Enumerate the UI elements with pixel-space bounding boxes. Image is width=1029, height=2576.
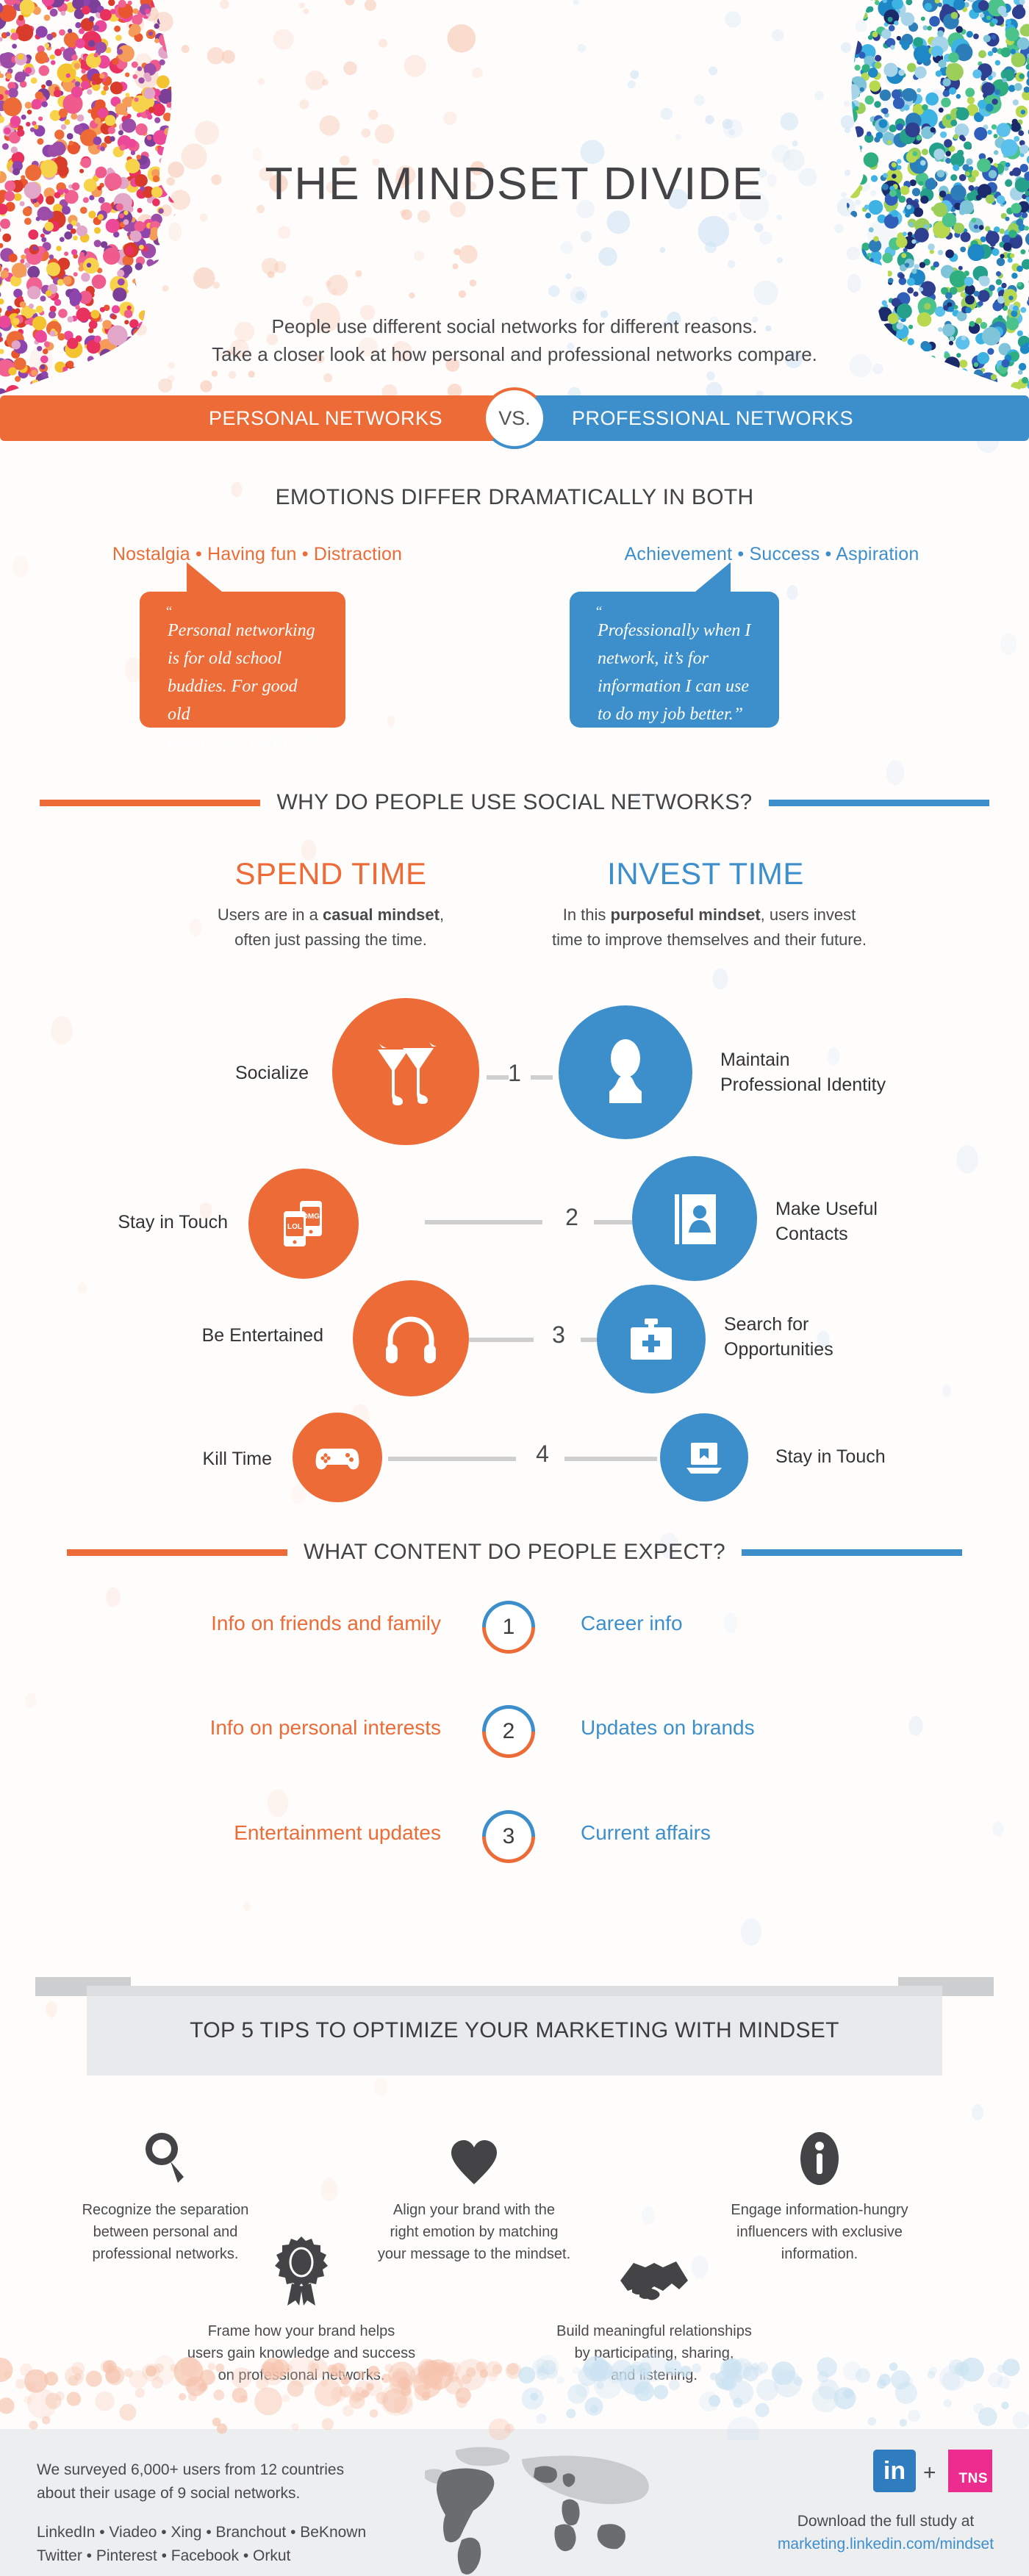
info-icon <box>800 2131 839 2186</box>
spend-desc-a: Users are in a <box>218 905 323 924</box>
ce-left-3: Entertainment updates <box>96 1821 441 1845</box>
professional-quote-text: Professionally when I network, it’s for … <box>598 617 751 728</box>
tip-3-line2: influencers with exclusive <box>691 2221 948 2243</box>
invest-label-1: Maintain Professional Identity <box>720 1047 963 1097</box>
rank-number-1: 1 <box>500 1060 529 1087</box>
invest-label-3-line1: Search for <box>724 1312 959 1337</box>
download-label: Download the full study at <box>797 2513 974 2530</box>
blue-rule <box>742 1549 962 1556</box>
orange-rule <box>67 1549 287 1556</box>
tip-4: Frame how your brand helps users gain kn… <box>158 2245 445 2386</box>
invest-icon-circle-4 <box>660 1413 748 1502</box>
tip-5-line2: by participating, sharing, <box>507 2342 801 2364</box>
tns-logo: TNS <box>948 2450 992 2492</box>
tip-2-icon-wrap <box>345 2124 603 2186</box>
rank-number-2: 2 <box>557 1204 587 1231</box>
svg-text:LOL: LOL <box>287 1223 302 1231</box>
rank-connector-line <box>388 1457 516 1461</box>
game-controller-icon <box>312 1432 362 1482</box>
personal-quote-text: Personal networking is for old school bu… <box>168 617 318 756</box>
spend-time-desc: Users are in a casual mindset, often jus… <box>173 903 489 952</box>
laptop-icon <box>681 1434 728 1481</box>
invest-label-2: Make Useful Contacts <box>775 1196 996 1246</box>
cocktail-glasses-icon <box>367 1033 444 1110</box>
invest-desc-c: , users invest <box>761 905 856 924</box>
briefcase-icon <box>622 1310 681 1368</box>
tip-1-icon-wrap <box>44 2124 287 2186</box>
spend-desc-bold: casual mindset <box>323 905 440 924</box>
spend-icon-circle-3 <box>353 1280 469 1396</box>
invest-icon-circle-1 <box>559 1005 692 1139</box>
personal-networks-label: PERSONAL NETWORKS <box>0 395 470 441</box>
tip-5: Build meaningful relationships by partic… <box>507 2245 801 2386</box>
subtitle-line-1: People use different social networks for… <box>0 312 1029 340</box>
content-expect-heading: WHAT CONTENT DO PEOPLE EXPECT? <box>0 1540 1029 1565</box>
invest-desc-line2: time to improve themselves and their fut… <box>552 930 867 949</box>
tip-2-line1: Align your brand with the <box>345 2199 603 2221</box>
spend-icon-circle-2: OMG LOL <box>248 1169 359 1279</box>
spend-icon-circle-4 <box>293 1413 382 1502</box>
spend-label-4: Kill Time <box>88 1446 272 1471</box>
rank-number-4: 4 <box>528 1441 557 1468</box>
invest-label-3: Search for Opportunities <box>724 1312 959 1362</box>
spend-label-3: Be Entertained <box>125 1323 323 1348</box>
rank-connector-line <box>531 1075 553 1080</box>
professional-emotion-words: Achievement • Success • Aspiration <box>514 544 1029 565</box>
ce-number-3: 3 <box>482 1810 535 1863</box>
handshake-icon <box>617 2250 691 2307</box>
spend-label-1: Socialize <box>125 1061 309 1086</box>
download-block: Download the full study at marketing.lin… <box>764 2510 1007 2555</box>
spend-time-title: SPEND TIME <box>198 856 463 891</box>
tip-4-icon-wrap <box>158 2245 445 2307</box>
ce-left-1: Info on friends and family <box>96 1612 441 1635</box>
tip-1-line1: Recognize the separation <box>44 2199 287 2221</box>
professional-networks-label: PROFESSIONAL NETWORKS <box>559 395 1029 441</box>
invest-icon-circle-3 <box>597 1285 706 1393</box>
invest-label-2-line2: Contacts <box>775 1221 996 1246</box>
emotions-heading: EMOTIONS DIFFER DRAMATICALLY IN BOTH <box>0 485 1029 510</box>
linkedin-logo: in <box>873 2450 916 2492</box>
download-url-link[interactable]: marketing.linkedin.com/mindset <box>764 2533 1007 2555</box>
invest-label-1-line2: Professional Identity <box>720 1072 963 1097</box>
invest-label-2-line1: Make Useful <box>775 1196 996 1221</box>
tip-2: Align your brand with the right emotion … <box>345 2124 603 2265</box>
tip-3-line1: Engage information-hungry <box>691 2199 948 2221</box>
ce-right-2: Updates on brands <box>581 1716 926 1740</box>
professional-quote-bubble: “ Professionally when I network, it’s fo… <box>570 592 779 728</box>
tip-4-text: Frame how your brand helps users gain kn… <box>158 2320 445 2386</box>
invest-desc-bold: purposeful mindset <box>611 905 761 924</box>
contact-card-icon <box>663 1187 726 1250</box>
plus-sign-icon: + <box>923 2461 936 2486</box>
invest-label-3-line2: Opportunities <box>724 1337 959 1362</box>
headphones-icon <box>380 1307 442 1369</box>
why-heading-text: WHY DO PEOPLE USE SOCIAL NETWORKS? <box>276 790 752 815</box>
world-map-graphic <box>412 2439 669 2576</box>
magnifier-icon <box>143 2130 188 2186</box>
orange-rule <box>40 800 260 806</box>
tip-4-line2: users gain knowledge and success <box>158 2342 445 2364</box>
professional-bubble-tail <box>691 562 731 595</box>
versus-banner: PERSONAL NETWORKS PROFESSIONAL NETWORKS … <box>0 395 1029 441</box>
rank-connector-line <box>425 1220 542 1224</box>
ce-right-1: Career info <box>581 1612 926 1635</box>
invest-desc-a: In this <box>563 905 611 924</box>
spend-icon-circle-1 <box>332 998 479 1145</box>
ce-number-1: 1 <box>482 1601 535 1654</box>
heart-icon <box>450 2139 498 2186</box>
tip-5-text: Build meaningful relationships by partic… <box>507 2320 801 2386</box>
ce-left-2: Info on personal interests <box>96 1716 441 1740</box>
award-ribbon-icon <box>273 2235 330 2307</box>
rank-connector-line <box>564 1457 657 1461</box>
invest-time-desc: In this purposeful mindset, users invest… <box>529 903 889 952</box>
why-section-heading: WHY DO PEOPLE USE SOCIAL NETWORKS? <box>0 790 1029 815</box>
page-subtitle: People use different social networks for… <box>0 312 1029 368</box>
tip-1: Recognize the separation between persona… <box>44 2124 287 2265</box>
rank-number-3: 3 <box>544 1321 573 1349</box>
quote-mark-icon: “ <box>165 605 173 619</box>
personal-bubble-tail <box>187 562 226 595</box>
tip-2-line2: right emotion by matching <box>345 2221 603 2243</box>
smartphones-lol-omg-icon: OMG LOL <box>273 1194 334 1254</box>
invest-icon-circle-2 <box>632 1156 757 1281</box>
tip-3-icon-wrap <box>691 2124 948 2186</box>
subtitle-line-2: Take a closer look at how personal and p… <box>0 340 1029 368</box>
ce-right-3: Current affairs <box>581 1821 926 1845</box>
ce-number-2: 2 <box>482 1705 535 1758</box>
spend-label-2: Stay in Touch <box>44 1210 228 1235</box>
quote-mark-icon: “ <box>595 605 603 619</box>
ribbon-title: TOP 5 TIPS TO OPTIMIZE YOUR MARKETING WI… <box>87 1986 942 2075</box>
invest-time-title: INVEST TIME <box>573 856 838 891</box>
tip-5-line1: Build meaningful relationships <box>507 2320 801 2342</box>
rank-connector-line <box>469 1338 534 1342</box>
tip-4-line3: on professional networks. <box>158 2364 445 2386</box>
personal-emotion-words: Nostalgia • Having fun • Distraction <box>0 544 514 565</box>
page-title: THE MINDSET DIVIDE <box>0 158 1029 210</box>
spend-desc-line2: often just passing the time. <box>234 930 427 949</box>
tip-1-line2: between personal and <box>44 2221 287 2243</box>
blue-rule <box>769 800 989 806</box>
versus-badge: VS. <box>483 387 546 449</box>
tip-5-icon-wrap <box>507 2245 801 2307</box>
invest-label-4: Stay in Touch <box>775 1444 996 1469</box>
personal-quote-bubble: “ Personal networking is for old school … <box>140 592 345 728</box>
spend-desc-c: , <box>440 905 444 924</box>
infographic-page: THE MINDSET DIVIDE People use different … <box>0 0 1029 2576</box>
tip-4-line1: Frame how your brand helps <box>158 2320 445 2342</box>
tip-3: Engage information-hungry influencers wi… <box>691 2124 948 2265</box>
invest-label-1-line1: Maintain <box>720 1047 963 1072</box>
person-silhouette-icon <box>592 1038 659 1106</box>
tips-ribbon: TOP 5 TIPS TO OPTIMIZE YOUR MARKETING WI… <box>0 1955 1029 2095</box>
content-expect-heading-text: WHAT CONTENT DO PEOPLE EXPECT? <box>304 1540 725 1565</box>
tip-5-line3: and listening. <box>507 2364 801 2386</box>
